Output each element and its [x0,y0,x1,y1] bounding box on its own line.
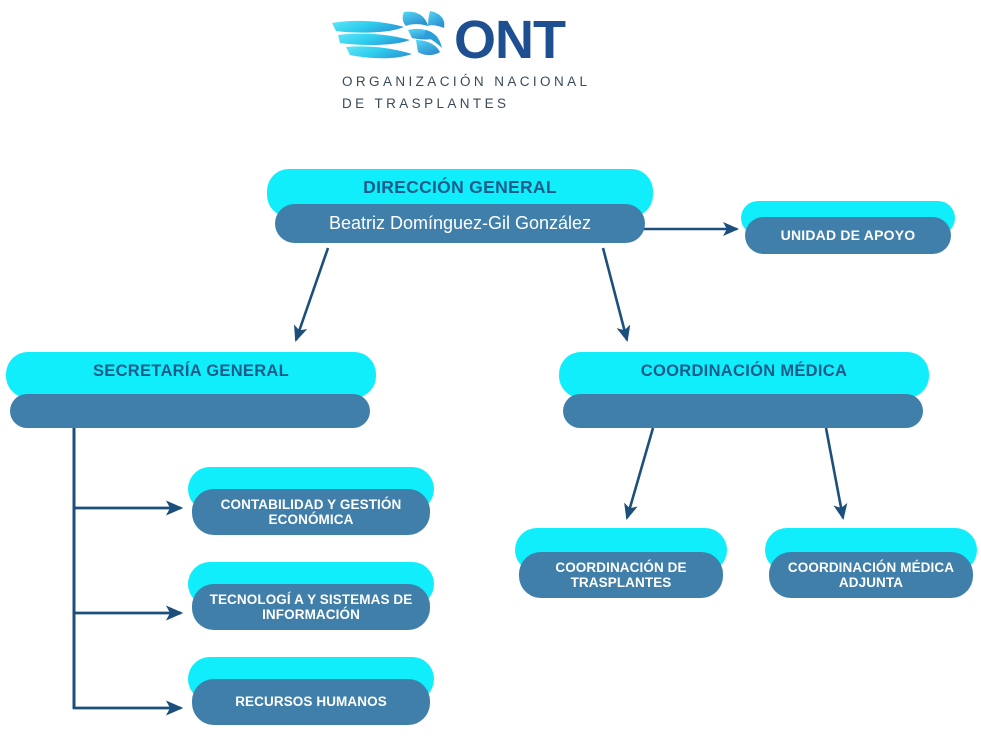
node-contabilidad-label: CONTABILIDAD Y GESTIÓN ECONÓMICA [192,497,430,528]
node-direccion-general[interactable]: DIRECCIÓN GENERAL Beatriz Domínguez-Gil … [267,169,653,249]
node-unidad-apoyo-body: UNIDAD DE APOYO [745,217,951,254]
logo-subtitle-line-2: DE TRASPLANTES [342,96,509,111]
logo-wordmark: ONT [454,12,565,68]
node-unidad-apoyo-label: UNIDAD DE APOYO [781,228,916,244]
node-secretaria-general-title: SECRETARÍA GENERAL [93,362,289,380]
node-coordinacion-medica-adjunta-label: COORDINACIÓN MÉDICA ADJUNTA [769,560,973,591]
edge-direccion-to-secretaria [296,248,328,340]
edge-direccion-to-coordinacion [603,248,627,340]
node-direccion-general-body: Beatriz Domínguez-Gil González [275,204,645,243]
node-tecnologia[interactable]: TECNOLOGÍ A Y SISTEMAS DE INFORMACIÓN [188,562,434,630]
node-recursos-humanos[interactable]: RECURSOS HUMANOS [188,657,434,725]
node-tecnologia-body: TECNOLOGÍ A Y SISTEMAS DE INFORMACIÓN [192,584,430,630]
node-contabilidad[interactable]: CONTABILIDAD Y GESTIÓN ECONÓMICA [188,467,434,535]
node-direccion-general-title: DIRECCIÓN GENERAL [363,178,557,198]
node-coordinacion-trasplantes-body: COORDINACIÓN DE TRASPLANTES [519,552,723,598]
ont-logo: ONT ORGANIZACIÓN NACIONAL DE TRASPLANTES [330,8,630,118]
edge-coordinacion-to-trasplantes [627,428,653,518]
node-tecnologia-label: TECNOLOGÍ A Y SISTEMAS DE INFORMACIÓN [192,592,430,623]
node-coordinacion-medica-adjunta[interactable]: COORDINACIÓN MÉDICA ADJUNTA [765,528,977,598]
node-coordinacion-medica-title: COORDINACIÓN MÉDICA [641,362,847,380]
node-recursos-humanos-label: RECURSOS HUMANOS [235,694,387,709]
edge-coordinacion-to-adjunta [826,428,843,518]
node-coordinacion-trasplantes[interactable]: COORDINACIÓN DE TRASPLANTES [515,528,727,598]
node-contabilidad-body: CONTABILIDAD Y GESTIÓN ECONÓMICA [192,489,430,535]
node-coordinacion-trasplantes-label: COORDINACIÓN DE TRASPLANTES [519,560,723,591]
node-coordinacion-medica-body [563,394,923,428]
node-secretaria-general-body [10,394,370,428]
node-coordinacion-medica-adjunta-body: COORDINACIÓN MÉDICA ADJUNTA [769,552,973,598]
node-secretaria-general-header: SECRETARÍA GENERAL [6,352,376,398]
node-coordinacion-medica[interactable]: COORDINACIÓN MÉDICA [559,352,929,430]
logo-subtitle-line-1: ORGANIZACIÓN NACIONAL [342,74,590,89]
node-direccion-general-person: Beatriz Domínguez-Gil González [329,213,591,234]
node-recursos-humanos-body: RECURSOS HUMANOS [192,679,430,725]
node-secretaria-general[interactable]: SECRETARÍA GENERAL [6,352,376,430]
node-coordinacion-medica-header: COORDINACIÓN MÉDICA [559,352,929,398]
node-unidad-apoyo[interactable]: UNIDAD DE APOYO [741,201,955,257]
wing-bird-icon [330,10,460,68]
